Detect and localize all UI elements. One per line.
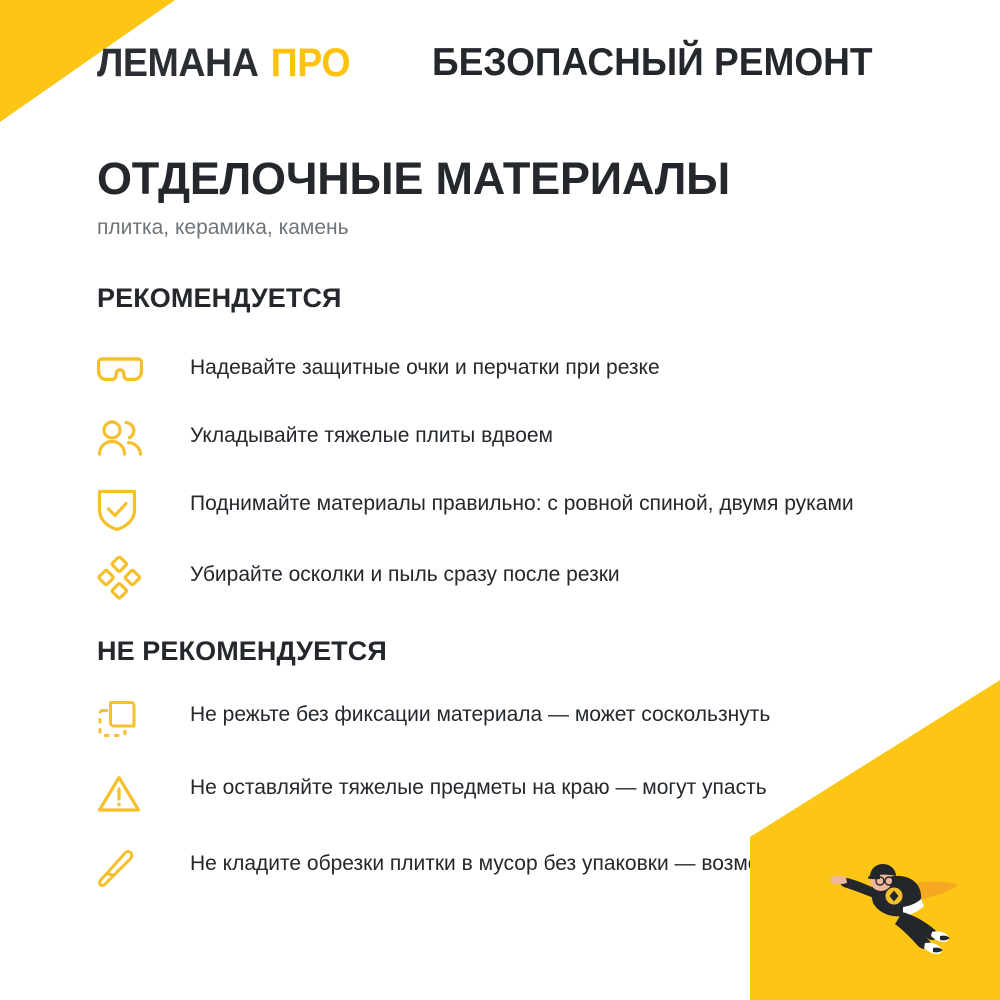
unfixed-square-icon — [97, 692, 149, 743]
knife-icon — [97, 841, 149, 895]
title-block: ОТДЕЛОЧНЫЕ МАТЕРИАЛЫ плитка, керамика, к… — [97, 155, 917, 240]
list-item: Укладывайте тяжелые плиты вдвоем — [97, 413, 907, 464]
recommended-list: Надевайте защитные очки и перчатки при р… — [97, 345, 907, 620]
page-subtitle: плитка, керамика, камень — [97, 215, 917, 240]
brand-name-primary: ЛЕМАНА — [97, 41, 258, 86]
list-item-label: Убирайте осколки и пыль сразу после резк… — [149, 552, 907, 590]
two-people-icon — [97, 413, 149, 464]
list-item: Поднимайте материалы правильно: с ровной… — [97, 481, 907, 535]
list-item: Надевайте защитные очки и перчатки при р… — [97, 345, 907, 396]
flying-superhero-worker-illustration — [818, 844, 968, 964]
list-item-label: Надевайте защитные очки и перчатки при р… — [149, 345, 907, 383]
section-heading-not-recommended: НЕ РЕКОМЕНДУЕТСЯ — [97, 636, 387, 667]
brand-logo: ЛЕМАНА ПРО — [97, 41, 350, 86]
section-heading-recommended: РЕКОМЕНДУЕТСЯ — [97, 283, 342, 314]
page-title: ОТДЕЛОЧНЫЕ МАТЕРИАЛЫ — [97, 155, 917, 202]
four-diamonds-icon — [97, 552, 149, 603]
list-item-label: Поднимайте материалы правильно: с ровной… — [149, 481, 907, 519]
poster-canvas: ЛЕМАНА ПРО БЕЗОПАСНЫЙ РЕМОНТ ОТДЕЛОЧНЫЕ … — [0, 0, 1000, 1000]
list-item: Убирайте осколки и пыль сразу после резк… — [97, 552, 907, 603]
list-item-label: Укладывайте тяжелые плиты вдвоем — [149, 413, 907, 451]
safety-goggles-icon — [97, 345, 149, 396]
header-band: ЛЕМАНА ПРО БЕЗОПАСНЫЙ РЕМОНТ — [0, 0, 1000, 122]
shield-check-icon — [97, 481, 149, 535]
header-tagline: БЕЗОПАСНЫЙ РЕМОНТ — [432, 41, 873, 85]
warning-triangle-icon — [97, 765, 149, 819]
brand-name-secondary: ПРО — [271, 41, 350, 86]
